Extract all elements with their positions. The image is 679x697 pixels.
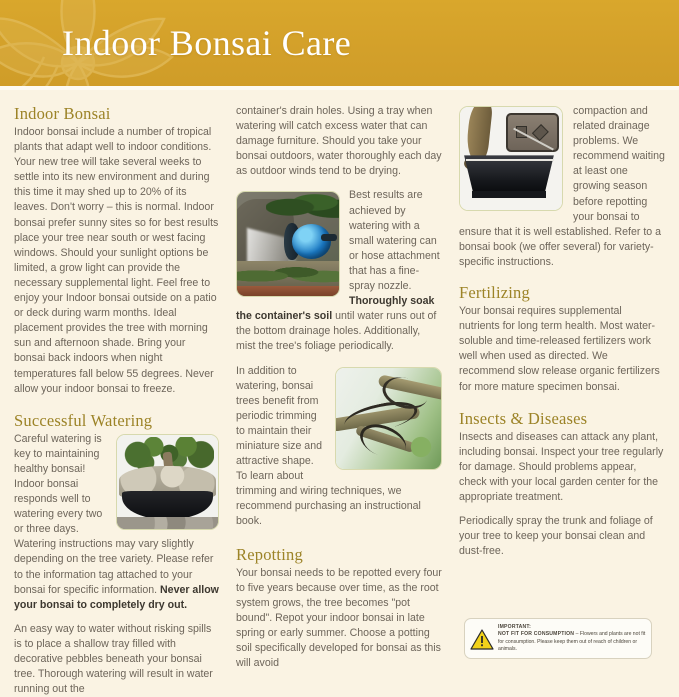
- column-right: compaction and related drainage problems…: [459, 104, 665, 679]
- paragraph-insects-1: Insects and diseases can attack any plan…: [459, 430, 665, 505]
- brochure-page: Indoor Bonsai Care Indoor Bonsai Indoor …: [0, 0, 679, 679]
- paragraph-indoor-bonsai: Indoor bonsai include a number of tropic…: [14, 125, 219, 397]
- wired-branch-photo: [335, 367, 442, 470]
- page-header: Indoor Bonsai Care: [0, 0, 679, 90]
- column-middle: container's drain holes. Using a tray wh…: [236, 104, 442, 679]
- paragraph-insects-2: Periodically spray the trunk and foliage…: [459, 514, 665, 559]
- warning-triangle-icon: [470, 628, 494, 650]
- warning-text-block: IMPORTANT: NOT FIT FOR CONSUMPTION – Flo…: [498, 624, 646, 653]
- paragraph-watering-tray: An easy way to water without risking spi…: [14, 622, 219, 697]
- heading-indoor-bonsai: Indoor Bonsai: [14, 104, 219, 124]
- paragraph-repotting: Your bonsai needs to be repotted every f…: [236, 566, 442, 672]
- heading-repotting: Repotting: [236, 545, 442, 565]
- warning-line-1: IMPORTANT:: [498, 624, 646, 631]
- page-title: Indoor Bonsai Care: [62, 22, 351, 64]
- heading-insects-diseases: Insects & Diseases: [459, 409, 665, 429]
- paragraph-drain-holes: container's drain holes. Using a tray wh…: [236, 104, 442, 179]
- blue-watering-can-photo: [236, 191, 340, 297]
- pot-drainage-diagram-photo: [459, 106, 563, 211]
- bonsai-in-dark-pot-photo: [116, 434, 219, 530]
- best-results-text-before: Best results are achieved by watering wi…: [349, 189, 440, 292]
- important-warning-box: IMPORTANT: NOT FIT FOR CONSUMPTION – Flo…: [464, 618, 652, 659]
- paragraph-fertilizing: Your bonsai requires supplemental nutrie…: [459, 304, 665, 395]
- content-area: Indoor Bonsai Indoor bonsai include a nu…: [0, 90, 679, 679]
- warning-line-2-bold: NOT FIT FOR CONSUMPTION: [498, 631, 574, 637]
- heading-fertilizing: Fertilizing: [459, 283, 665, 303]
- heading-successful-watering: Successful Watering: [14, 411, 219, 431]
- column-left: Indoor Bonsai Indoor bonsai include a nu…: [14, 104, 219, 679]
